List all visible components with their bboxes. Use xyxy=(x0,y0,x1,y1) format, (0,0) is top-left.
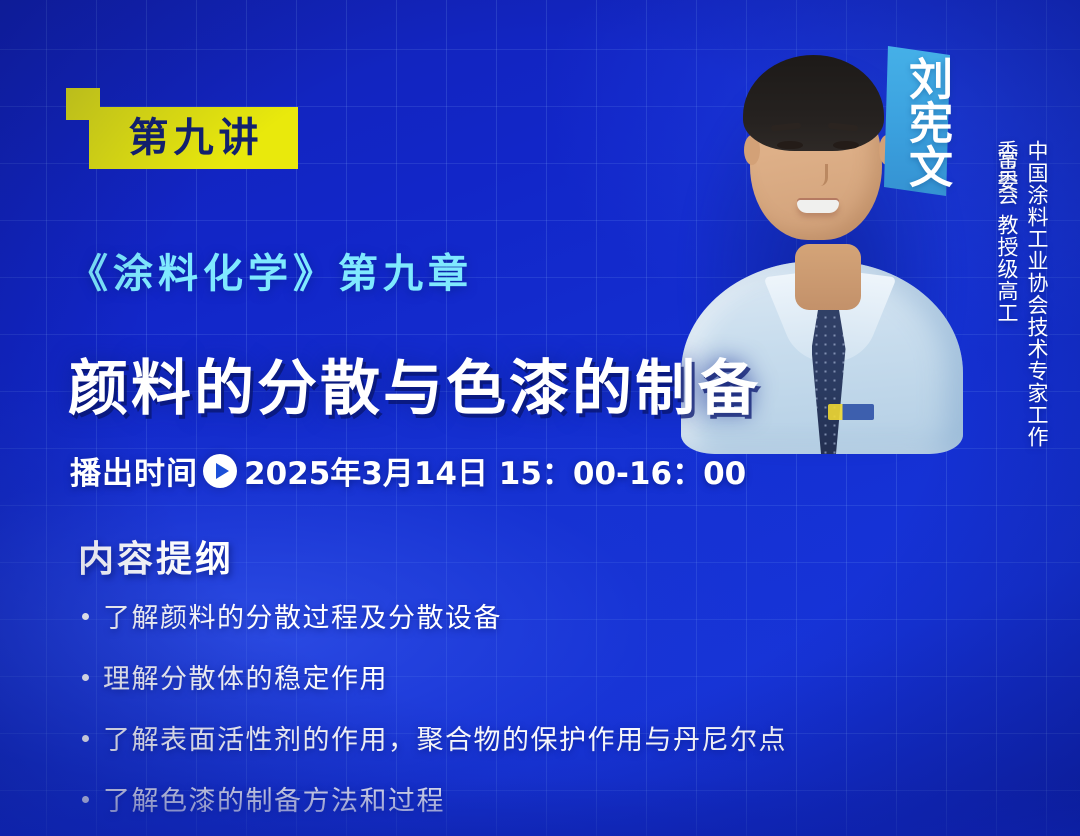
photo-nose xyxy=(809,164,828,186)
list-item-label: 了解表面活性剂的作用，聚合物的保护作用与丹尼尔点 xyxy=(103,718,787,757)
broadcast-time: 播出时间 2025年3月14日 15：00-16：00 xyxy=(70,448,746,493)
photo-neck xyxy=(795,244,861,310)
lecture-badge: 第九讲 xyxy=(66,88,366,170)
broadcast-datetime: 2025年3月14日 15：00-16：00 xyxy=(244,448,746,493)
list-item: 了解色漆的制备方法和过程 xyxy=(82,779,962,818)
outline-list: 了解颜料的分散过程及分散设备 理解分散体的稳定作用 了解表面活性剂的作用，聚合物… xyxy=(82,596,962,836)
bullet-icon xyxy=(82,796,89,803)
list-item: 理解分散体的稳定作用 xyxy=(82,657,962,696)
chapter-subtitle: 《涂料化学》第九章 xyxy=(68,251,473,297)
photo-eye-left xyxy=(777,141,803,149)
list-item-label: 了解色漆的制备方法和过程 xyxy=(103,779,445,818)
list-item: 了解表面活性剂的作用，聚合物的保护作用与丹尼尔点 xyxy=(82,718,962,757)
bullet-icon xyxy=(82,613,89,620)
page-title: 颜料的分散与色漆的制备 xyxy=(68,356,761,422)
presenter-title: 常委、教授级高工 xyxy=(992,148,1022,378)
photo-eye-right xyxy=(833,141,859,149)
play-icon[interactable] xyxy=(203,454,237,488)
broadcast-time-label: 播出时间 xyxy=(70,448,198,493)
badge-label: 第九讲 xyxy=(124,118,264,158)
list-item: 了解颜料的分散过程及分散设备 xyxy=(82,596,962,635)
bullet-icon xyxy=(82,674,89,681)
lecture-poster: 第九讲 《涂料化学》第九章 颜料的分散与色漆的制备 播出时间 2025年3月14… xyxy=(0,0,1080,836)
list-item-label: 了解颜料的分散过程及分散设备 xyxy=(103,596,502,635)
outline-heading: 内容提纲 xyxy=(78,530,234,582)
badge-bar: 第九讲 xyxy=(89,107,298,169)
photo-mouth xyxy=(797,200,839,213)
list-item-label: 理解分散体的稳定作用 xyxy=(103,657,388,696)
bullet-icon xyxy=(82,735,89,742)
presenter-name: 刘宪文 xyxy=(888,52,948,192)
shirt-logo-badge xyxy=(828,404,874,420)
